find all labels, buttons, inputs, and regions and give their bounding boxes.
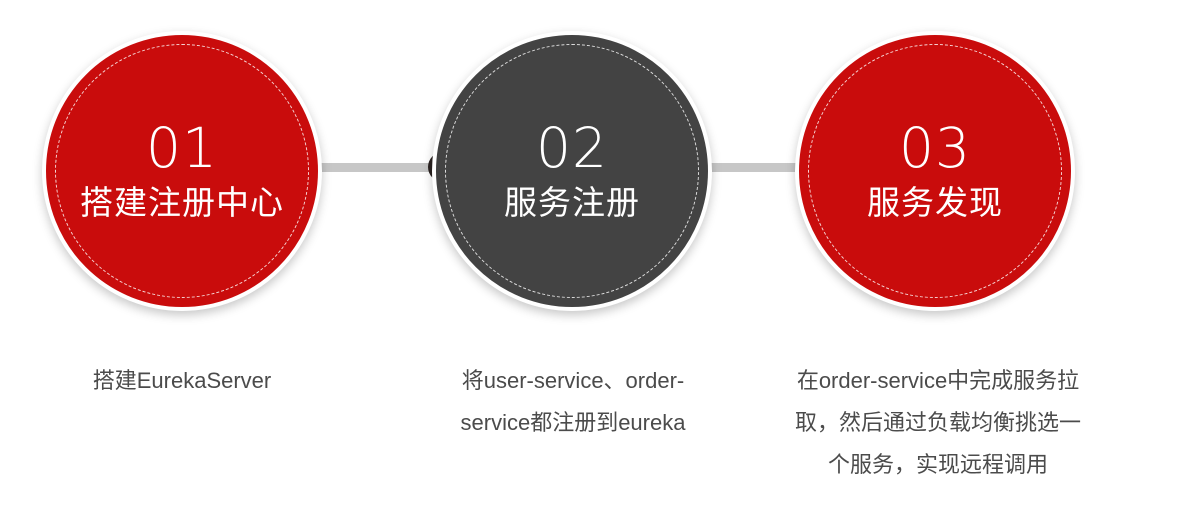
step-label-2: 服务注册 <box>504 184 640 222</box>
step-label-3: 服务发现 <box>867 184 1003 222</box>
step-caption-2: 将user-service、order-service都注册到eureka <box>430 360 716 444</box>
step-label-1: 搭建注册中心 <box>80 184 284 222</box>
step-circle-3[interactable]: 03 服务发现 <box>795 31 1075 311</box>
process-infographic: 01 搭建注册中心 02 服务注册 03 服务发现 搭建EurekaServer… <box>0 0 1180 514</box>
step-number-3: 03 <box>899 121 971 176</box>
step-circle-1[interactable]: 01 搭建注册中心 <box>42 31 322 311</box>
step-caption-1: 搭建EurekaServer <box>42 360 322 402</box>
step-number-2: 02 <box>536 121 608 176</box>
step-circle-2[interactable]: 02 服务注册 <box>432 31 712 311</box>
step-number-1: 01 <box>146 121 218 176</box>
step-caption-3: 在order-service中完成服务拉取，然后通过负载均衡挑选一个服务，实现远… <box>788 360 1088 485</box>
